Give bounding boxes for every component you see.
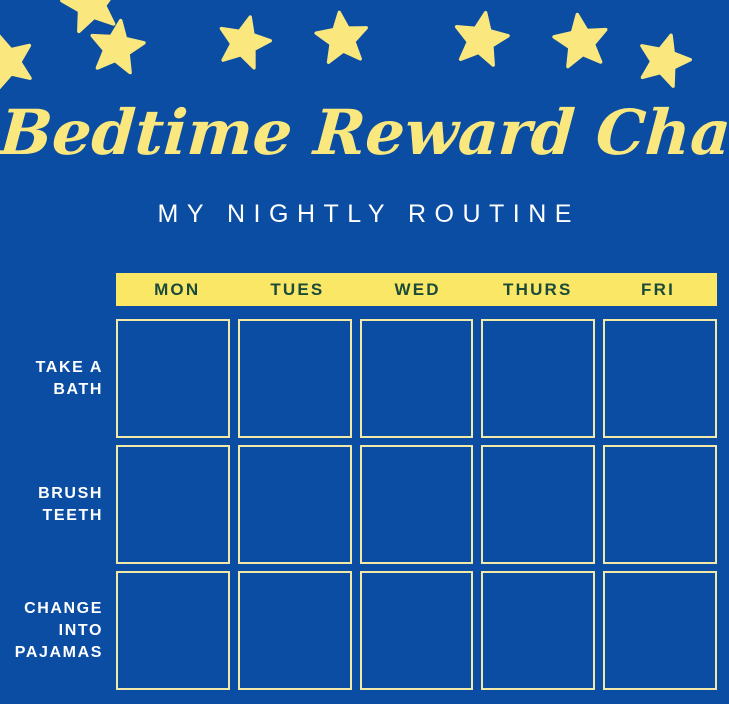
day-header-fri: FRI [597, 273, 717, 306]
sticker-cell-r1-c5[interactable] [603, 319, 717, 438]
star-icon [447, 5, 514, 72]
sticker-cell-r2-c2[interactable] [238, 445, 352, 564]
star-icon [210, 8, 278, 76]
sticker-cell-r2-c1[interactable] [116, 445, 230, 564]
sticker-cell-r3-c3[interactable] [360, 571, 474, 690]
sticker-cell-r1-c3[interactable] [360, 319, 474, 438]
routine-row-label-line: TEETH [0, 505, 103, 527]
sticker-cell-r3-c2[interactable] [238, 571, 352, 690]
star-icon [0, 24, 44, 97]
title-block: Bedtime Reward Chart [0, 96, 729, 170]
star-icon [54, 0, 128, 40]
day-header-thurs: THURS [477, 273, 597, 306]
day-header-mon: MON [116, 273, 236, 306]
routine-row-label-line: PAJAMAS [0, 642, 103, 664]
page-subtitle: MY NIGHTLY ROUTINE [0, 200, 729, 229]
routine-row-label-line: CHANGE [0, 598, 103, 620]
grid-row [116, 319, 717, 438]
day-header-wed: WED [356, 273, 476, 306]
star-field [0, 0, 729, 110]
sticker-cell-r1-c4[interactable] [481, 319, 595, 438]
routine-row-label: TAKE ABATH [0, 357, 103, 401]
routine-row-label: BRUSHTEETH [0, 483, 103, 527]
routine-row-label-line: BATH [0, 379, 103, 401]
star-icon [311, 7, 373, 69]
sticker-cell-r3-c4[interactable] [481, 571, 595, 690]
sticker-cell-r3-c1[interactable] [116, 571, 230, 690]
day-header-tues: TUES [236, 273, 356, 306]
page-title: Bedtime Reward Chart [0, 96, 729, 170]
sticker-cell-r2-c5[interactable] [603, 445, 717, 564]
grid-row [116, 445, 717, 564]
star-icon [629, 25, 698, 94]
routine-row-label: CHANGEINTOPAJAMAS [0, 598, 103, 664]
sticker-cell-r3-c5[interactable] [603, 571, 717, 690]
routine-row-label-line: BRUSH [0, 483, 103, 505]
grid-row [116, 571, 717, 690]
day-header-bar: MONTUESWEDTHURSFRI [116, 273, 717, 306]
sticker-cell-r1-c1[interactable] [116, 319, 230, 438]
routine-grid [116, 319, 717, 697]
star-icon [548, 8, 614, 74]
routine-row-label-line: INTO [0, 620, 103, 642]
sticker-cell-r1-c2[interactable] [238, 319, 352, 438]
bedtime-reward-chart-poster: Bedtime Reward Chart MY NIGHTLY ROUTINE … [0, 0, 729, 704]
sticker-cell-r2-c3[interactable] [360, 445, 474, 564]
sticker-cell-r2-c4[interactable] [481, 445, 595, 564]
star-icon [84, 14, 150, 80]
routine-row-label-line: TAKE A [0, 357, 103, 379]
